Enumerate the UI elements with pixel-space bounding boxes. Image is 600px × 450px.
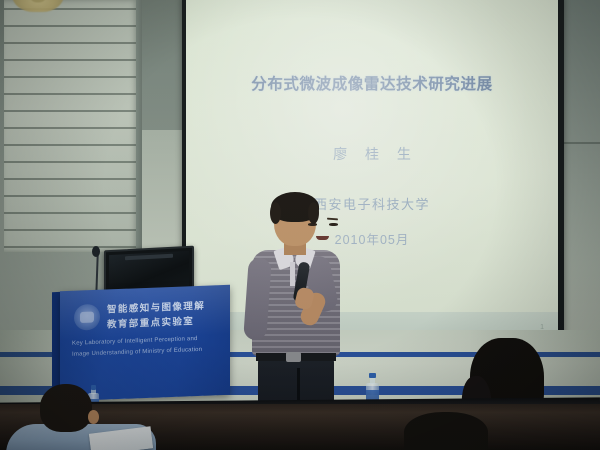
wall-panel — [142, 130, 182, 252]
projector-glow — [186, 0, 558, 334]
audience-member-center — [404, 412, 488, 450]
slide-date: 2010年05月 — [186, 229, 558, 248]
slide-organization: 西安电子科技大学 — [186, 194, 558, 213]
slide-title: 分布式微波成像雷达技术研究进展 — [186, 72, 558, 94]
slide-presenter-name: 廖 桂 生 — [186, 144, 558, 164]
window-blinds — [4, 0, 138, 252]
lecture-photo: 分布式微波成像雷达技术研究进展 廖 桂 生 西安电子科技大学 2010年05月 … — [0, 0, 600, 450]
audience-member-left — [6, 384, 156, 450]
speaker-person — [246, 196, 350, 426]
projection-screen: 分布式微波成像雷达技术研究进展 廖 桂 生 西安电子科技大学 2010年05月 … — [186, 0, 558, 334]
belt-buckle — [286, 352, 301, 362]
gooseneck-mic-head-icon — [92, 246, 100, 257]
